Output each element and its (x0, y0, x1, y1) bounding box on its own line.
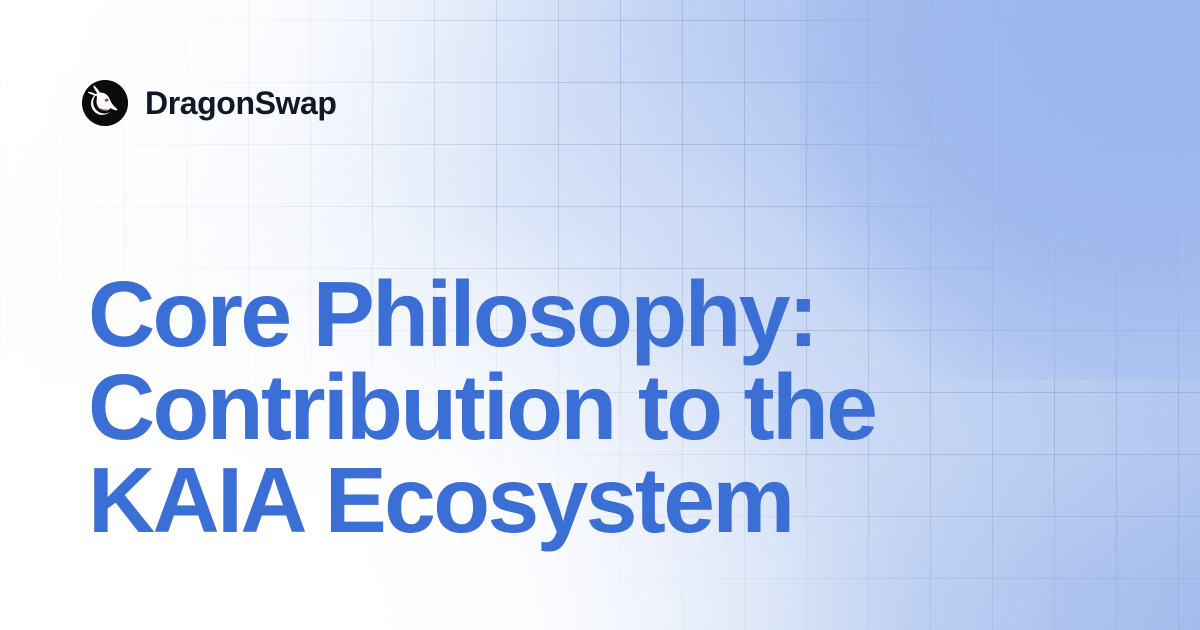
page-title: Core Philosophy: Contribution to the KAI… (88, 268, 1068, 547)
page-title-line-2: Contribution to the (88, 361, 1068, 454)
page-title-line-1: Core Philosophy: (88, 268, 1068, 361)
share-card-canvas: DragonSwap Core Philosophy: Contribution… (0, 0, 1200, 630)
dragon-head-icon (82, 80, 128, 126)
page-title-line-3: KAIA Ecosystem (88, 454, 1068, 547)
brand-name: DragonSwap (145, 87, 337, 119)
brand-lockup: DragonSwap (82, 80, 337, 126)
